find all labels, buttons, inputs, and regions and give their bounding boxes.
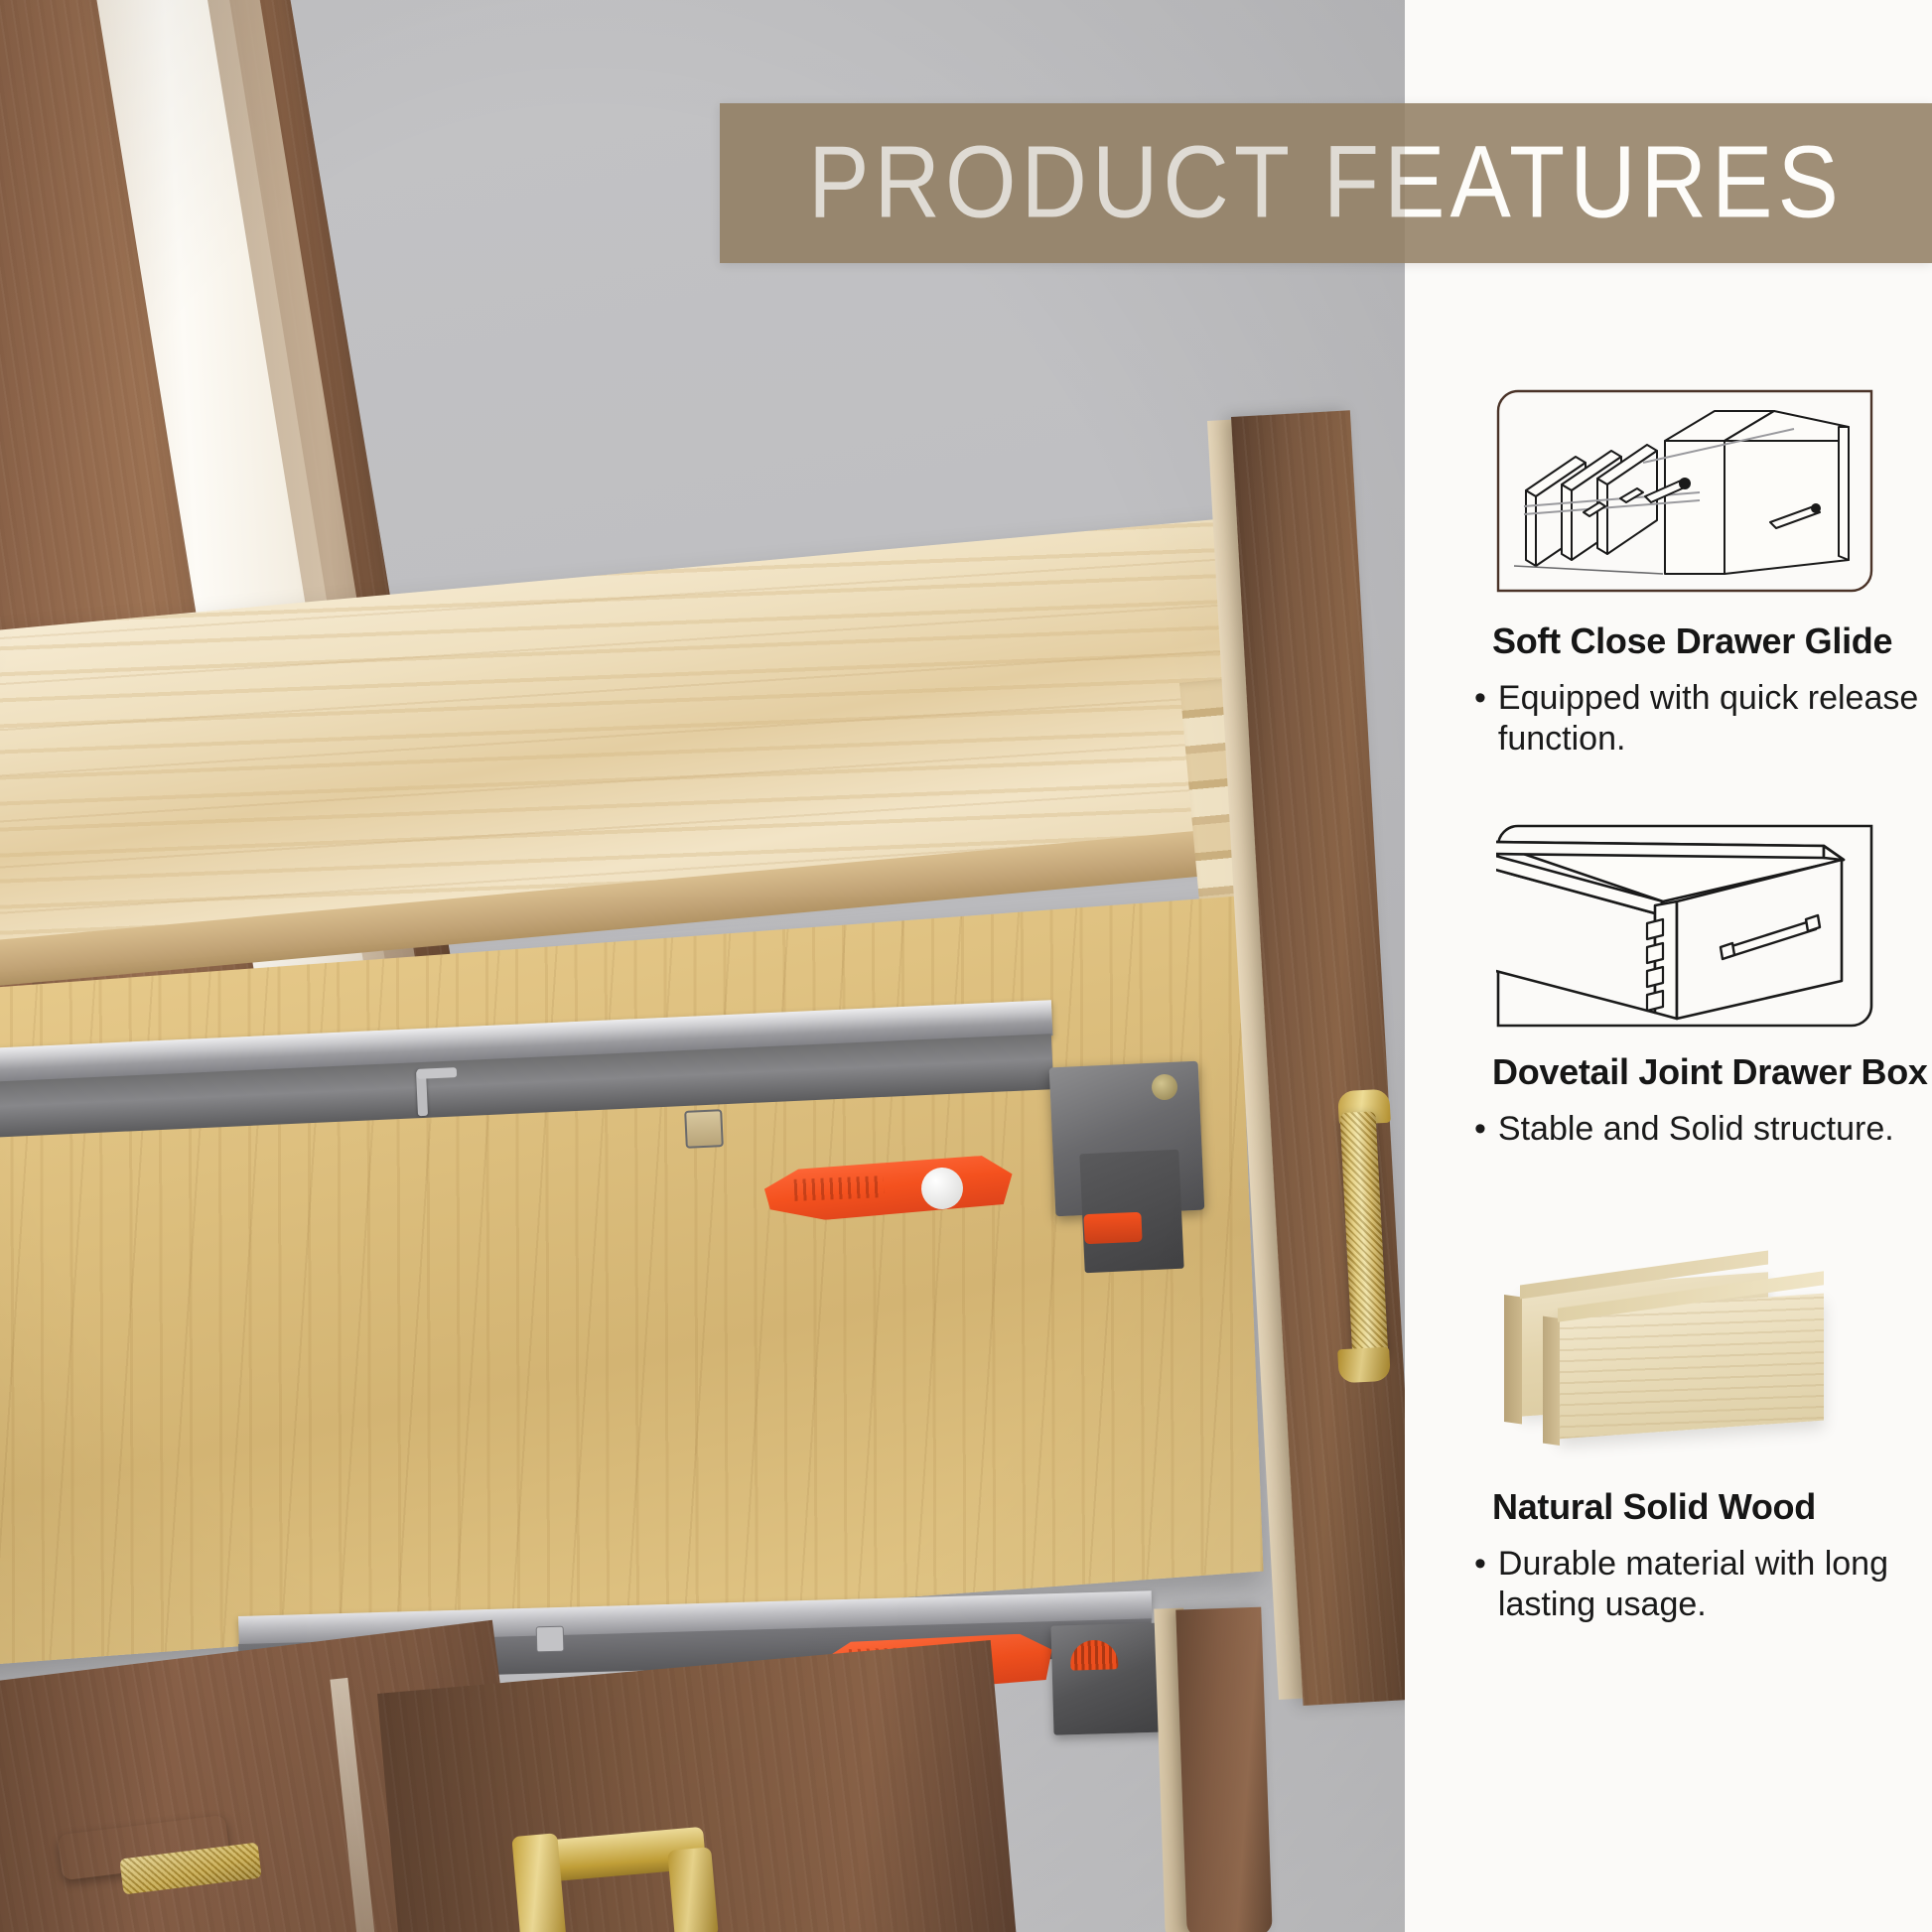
bullet-text: Equipped with quick release function. — [1498, 678, 1932, 760]
solid-wood-planks-icon — [1496, 1249, 1873, 1452]
drawer-glide-icon — [1496, 389, 1873, 593]
feature-title: Natural Solid Wood — [1492, 1486, 1932, 1528]
brass-handle-bottom-cap — [1337, 1347, 1391, 1384]
title-banner: PRODUCT FEATURES — [720, 103, 1932, 263]
product-photo — [0, 0, 1405, 1932]
feature-bullet: • Durable material with long lasting usa… — [1474, 1544, 1932, 1626]
feature-item-dovetail-joint-drawer-box: Dovetail Joint Drawer Box • Stable and S… — [1474, 824, 1932, 1150]
wood-plank-front — [1558, 1294, 1824, 1440]
slide-rail-hook-arm — [417, 1067, 457, 1079]
bottom-right-handle-right-leg — [667, 1847, 719, 1932]
feature-title: Dovetail Joint Drawer Box — [1492, 1051, 1932, 1093]
lower-rail-mounting-tab — [536, 1626, 565, 1653]
slide-rail-mounting-tab — [684, 1109, 724, 1149]
feature-bullet: • Equipped with quick release function. — [1474, 678, 1932, 760]
bullet-marker: • — [1474, 678, 1486, 760]
maple-drawer-side-panel — [0, 897, 1264, 1668]
bullet-text: Stable and Solid structure. — [1498, 1109, 1932, 1150]
feature-item-soft-close-drawer-glide: Soft Close Drawer Glide • Equipped with … — [1474, 389, 1932, 760]
upper-lever-secondary-clip — [1083, 1212, 1142, 1244]
upper-mechanism-housing — [1079, 1150, 1183, 1273]
feature-bullet: • Stable and Solid structure. — [1474, 1109, 1932, 1150]
upper-lever-grip-ribs — [794, 1175, 885, 1201]
dovetail-drawer-box-icon — [1496, 824, 1873, 1028]
bullet-text: Durable material with long lasting usage… — [1498, 1544, 1932, 1626]
bottom-right-handle-left-leg — [511, 1833, 566, 1932]
feature-item-natural-solid-wood: Natural Solid Wood • Durable material wi… — [1474, 1249, 1932, 1626]
cabinet-leg — [1175, 1607, 1272, 1932]
page-title: PRODUCT FEATURES — [808, 125, 1844, 242]
infographic-canvas: PRODUCT FEATURES — [0, 0, 1932, 1932]
feature-title: Soft Close Drawer Glide — [1492, 621, 1932, 662]
bullet-marker: • — [1474, 1544, 1486, 1626]
bullet-marker: • — [1474, 1109, 1486, 1150]
